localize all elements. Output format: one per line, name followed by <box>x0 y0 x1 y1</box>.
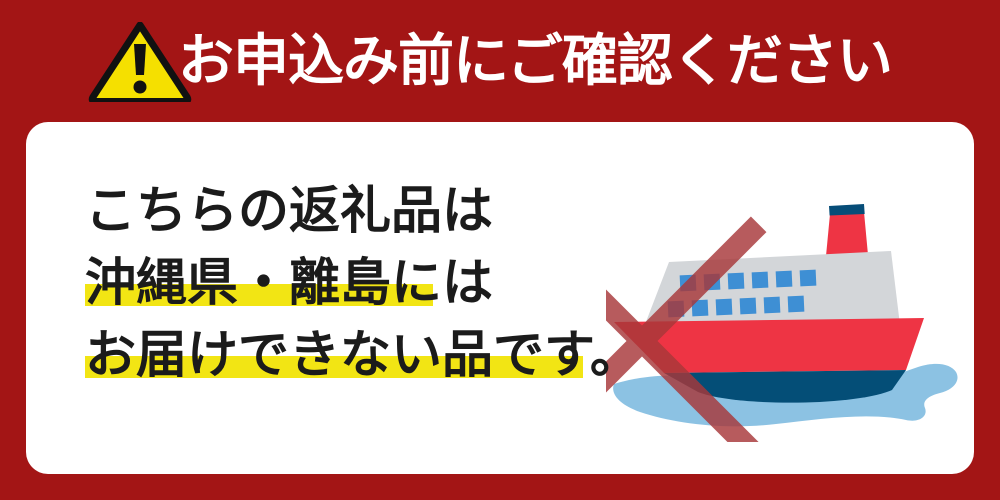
message-line-1-text: こちらの返礼品は <box>85 169 493 243</box>
notice-card: こちらの返礼品は 沖縄県・離島には お届けできない品です。 <box>26 122 974 474</box>
banner-header: お申込み前にご確認ください <box>0 0 1000 120</box>
warning-triangle-icon <box>88 22 192 102</box>
notice-banner: お申込み前にご確認ください こちらの返礼品は 沖縄県・離島には お届けできない品… <box>0 0 1000 500</box>
message-line-3-text: お届けできない品です。 <box>85 313 641 387</box>
page-title: お申込み前にご確認ください <box>178 20 938 104</box>
ferry-ship-prohibited-icon <box>606 162 966 442</box>
ship-funnel-icon <box>826 204 868 256</box>
message-line-3: お届けできない品です。 <box>85 314 605 386</box>
notice-message: こちらの返礼品は 沖縄県・離島には お届けできない品です。 <box>85 170 605 386</box>
message-line-2-text: 沖縄県・離島には <box>85 241 493 315</box>
message-line-1: こちらの返礼品は <box>85 170 605 242</box>
message-line-2: 沖縄県・離島には <box>85 242 605 314</box>
